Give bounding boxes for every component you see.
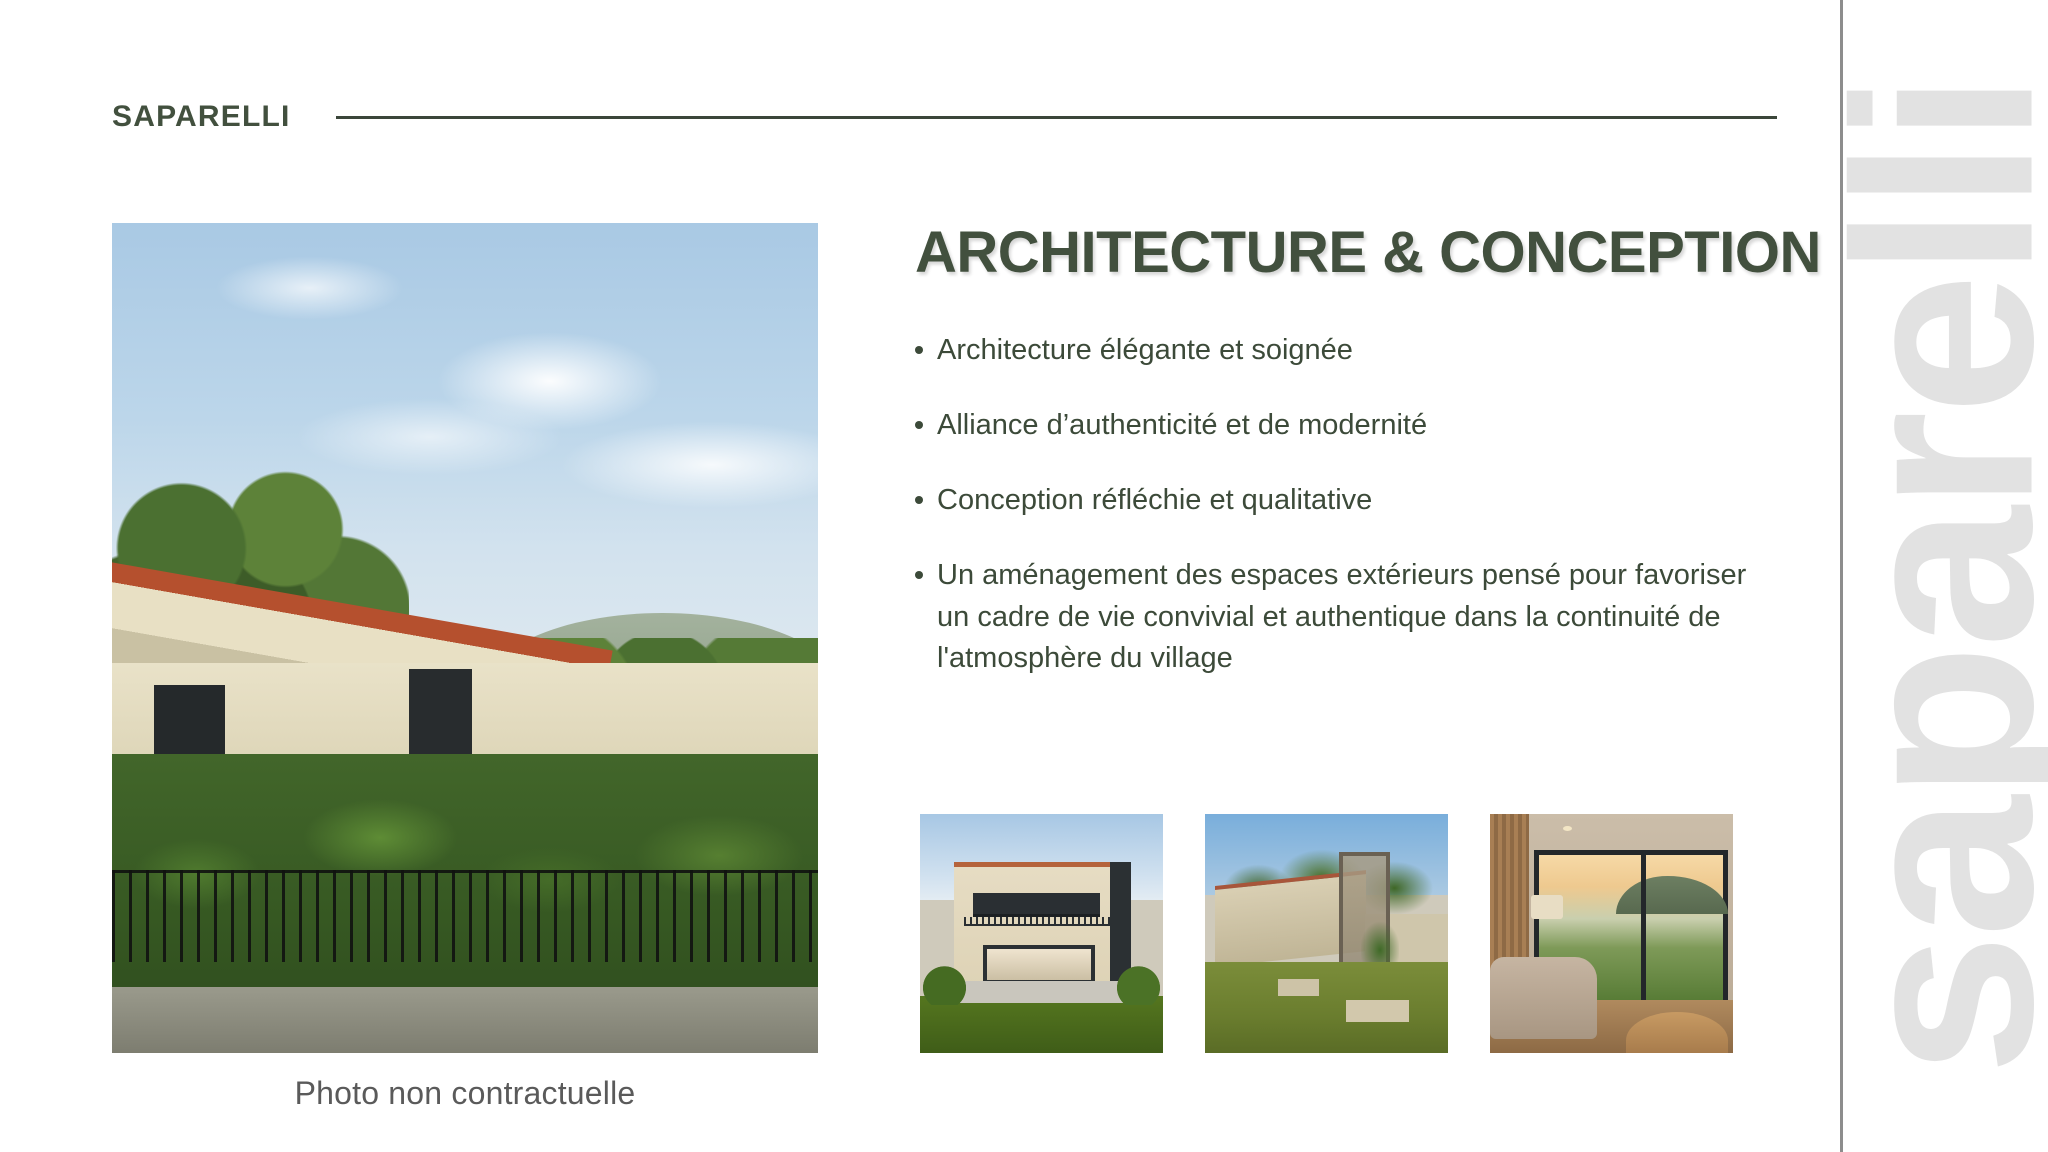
thumb2-grass xyxy=(1205,962,1448,1053)
thumb1-upper-window xyxy=(973,893,1099,917)
list-item-label: Un aménagement des espaces extérieurs pe… xyxy=(937,555,1767,679)
bullet-dot-icon xyxy=(915,496,923,504)
thumb3-floor-lamp xyxy=(1531,895,1563,919)
thumb2-bench-two xyxy=(1346,1000,1409,1022)
watermark-text: saparelli xyxy=(1840,77,2048,1076)
thumb1-balcony-rail xyxy=(964,917,1115,927)
hero-figure: Photo non contractuelle xyxy=(112,223,818,1112)
brand-name: SAPARELLI xyxy=(112,100,291,134)
list-item-label: Alliance d’authenticité et de modernité xyxy=(937,405,1427,446)
thumbnail-gallery xyxy=(920,814,1733,1053)
thumb2-bench-one xyxy=(1278,979,1319,996)
list-item: Alliance d’authenticité et de modernité xyxy=(915,405,1785,446)
hero-image xyxy=(112,223,818,1053)
thumbnail-residence-garden[interactable] xyxy=(1205,814,1448,1053)
thumb1-patio xyxy=(949,981,1134,1003)
hero-retaining-wall xyxy=(112,987,818,1053)
page-title: ARCHITECTURE & CONCEPTION xyxy=(915,223,1785,284)
thumb3-ceiling-spot-icon xyxy=(1563,826,1572,831)
list-item: Un aménagement des espaces extérieurs pe… xyxy=(915,555,1785,679)
hero-fence xyxy=(112,870,818,961)
bullet-dot-icon xyxy=(915,346,923,354)
slide: saparelli SAPARELLI Photo non contractue… xyxy=(0,0,2048,1152)
thumb3-sofa xyxy=(1490,957,1597,1038)
slide-header: SAPARELLI xyxy=(112,95,1777,139)
thumb3-mullion xyxy=(1641,850,1646,1005)
thumb1-sliding-door xyxy=(983,945,1095,983)
thumb1-shrub-left xyxy=(920,962,969,1005)
header-divider xyxy=(336,116,1777,119)
brand-watermark: saparelli xyxy=(1840,0,2048,1152)
thumb1-shrub-right xyxy=(1114,962,1163,1005)
thumbnail-interior-view[interactable] xyxy=(1490,814,1733,1053)
list-item-label: Architecture élégante et soignée xyxy=(937,330,1353,371)
bullet-dot-icon xyxy=(915,421,923,429)
list-item: Conception réfléchie et qualitative xyxy=(915,480,1785,521)
thumbnail-villa-exterior[interactable] xyxy=(920,814,1163,1053)
feature-list: Architecture élégante et soignée Allianc… xyxy=(915,330,1785,679)
hero-caption: Photo non contractuelle xyxy=(112,1075,818,1112)
content-column: ARCHITECTURE & CONCEPTION Architecture é… xyxy=(915,223,1785,679)
list-item: Architecture élégante et soignée xyxy=(915,330,1785,371)
list-item-label: Conception réfléchie et qualitative xyxy=(937,480,1372,521)
bullet-dot-icon xyxy=(915,571,923,579)
